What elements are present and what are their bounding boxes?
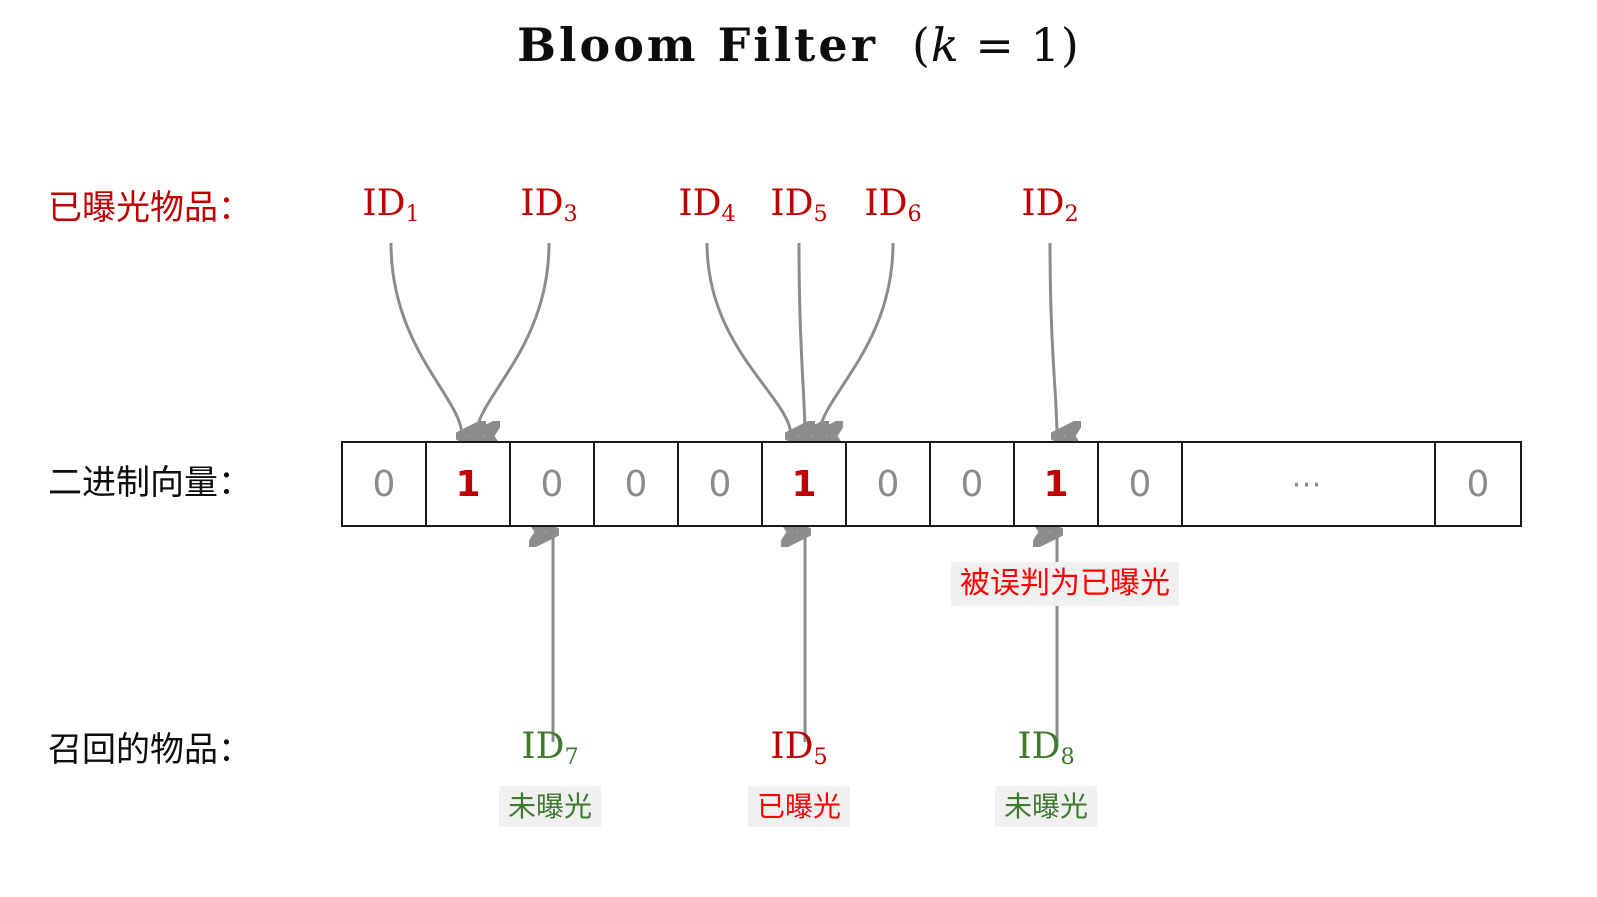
hash-arrow [391,243,462,436]
hash-arrow [799,243,805,436]
bit-cell: 1 [1015,443,1099,525]
bit-cell: 0 [1099,443,1183,525]
exposed-id-token: ID6 [864,183,921,227]
hash-arrow [707,243,791,436]
bloom-filter-diagram: Bloom Filter (k = 1) 已曝光物品： 二进制向量： 召回的物品… [0,0,1597,897]
binary-vector-label: 二进制向量： [48,455,252,504]
page-title: Bloom Filter (k = 1) [0,18,1597,72]
id-prefix: ID [864,183,907,224]
title-k-value: 1 [1031,18,1061,72]
id-prefix: ID [770,726,813,767]
id-subscript: 7 [564,744,578,770]
id-subscript: 8 [1060,744,1074,770]
id-subscript: 1 [405,201,419,227]
recalled-id-token: ID8 [1017,726,1074,770]
exposure-status-badge: 已曝光 [748,786,850,827]
bit-cell: 0 [931,443,1015,525]
title-main-text: Bloom Filter [517,18,878,72]
bit-cell: 0 [343,443,427,525]
id-prefix: ID [521,726,564,767]
hash-arrows-down [391,243,1057,436]
bit-cell: 0 [511,443,595,525]
id-prefix: ID [678,183,721,224]
recalled-items-label: 召回的物品： [48,722,252,771]
bit-cell: 0 [847,443,931,525]
id-subscript: 5 [813,744,827,770]
hash-arrow [819,243,893,436]
id-subscript: 6 [907,201,921,227]
recalled-id-token: ID5 [770,726,827,770]
title-paren-close: ) [1061,18,1080,72]
title-paren-open: ( [912,18,931,72]
id-subscript: 5 [813,201,827,227]
exposed-id-token: ID1 [362,183,419,227]
exposed-id-token: ID4 [678,183,735,227]
hash-arrow [1050,243,1057,436]
id-prefix: ID [362,183,405,224]
id-prefix: ID [770,183,813,224]
exposed-id-token: ID3 [520,183,577,227]
bit-cell: 1 [763,443,847,525]
exposure-status-badge: 未曝光 [499,786,601,827]
bit-cell: 1 [427,443,511,525]
id-prefix: ID [1017,726,1060,767]
title-equals: = [960,18,1031,72]
exposure-status-badge: 未曝光 [995,786,1097,827]
hash-arrow [476,243,549,436]
id-prefix: ID [1021,183,1064,224]
bit-cell: 0 [595,443,679,525]
id-subscript: 3 [563,201,577,227]
recalled-id-token: ID7 [521,726,578,770]
exposed-items-label: 已曝光物品： [48,180,252,229]
bit-cell: 0 [1436,443,1520,525]
bit-cell: 0 [679,443,763,525]
title-k-symbol: k [931,18,960,72]
id-subscript: 2 [1064,201,1078,227]
false-positive-annotation: 被误判为已曝光 [951,562,1179,606]
exposed-id-token: ID5 [770,183,827,227]
id-prefix: ID [520,183,563,224]
id-subscript: 4 [721,201,735,227]
exposed-id-token: ID2 [1021,183,1078,227]
binary-vector: 0100010010⋯0 [341,441,1522,527]
bit-cell-ellipsis: ⋯ [1183,443,1436,525]
